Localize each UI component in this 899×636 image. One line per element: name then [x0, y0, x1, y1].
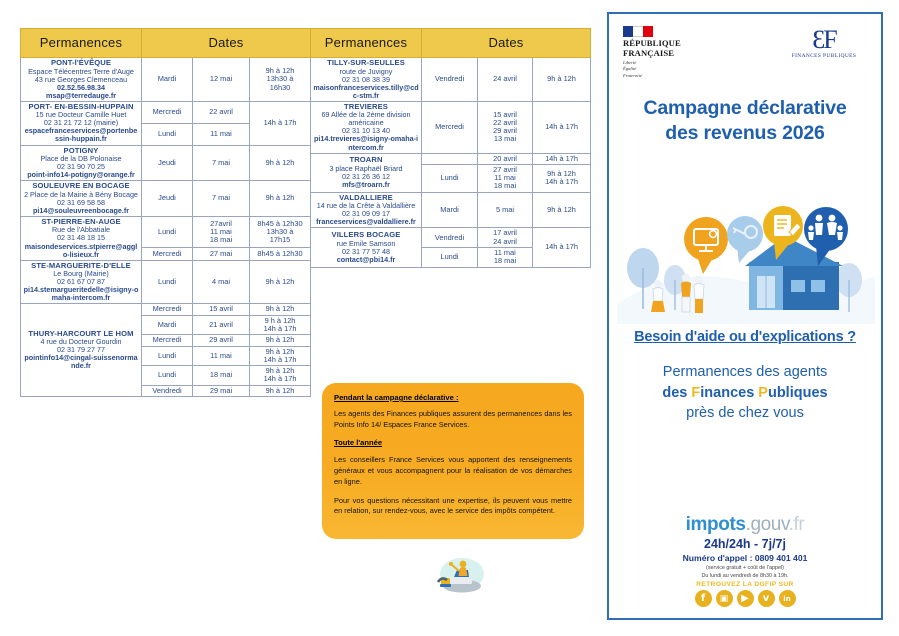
table-header-row: Permanences Dates: [311, 29, 591, 58]
site-cell: TROARN3 place Raphaël Briard02 31 26 36 …: [311, 153, 422, 192]
date-cell: 4 mai: [193, 260, 250, 304]
table-row: TILLY-SUR-SEULLESroute de Juvigny02 31 0…: [311, 58, 591, 102]
site-email: point-info14-potigny@orange.fr: [23, 171, 139, 179]
hours-cell: 9h à 12h: [533, 58, 591, 102]
hours-cell: 9h à 12h 14h à 17h: [250, 346, 311, 366]
day-cell: Jeudi: [142, 145, 193, 181]
date-cell: 21 avril: [193, 315, 250, 335]
subtitle-des: des: [662, 385, 691, 401]
site-cell: VILLERS BOCAGErue Emile Samson02 31 77 5…: [311, 228, 422, 267]
republique-francaise-logo: RÉPUBLIQUE FRANÇAISE Liberté Égalité Fra…: [623, 26, 705, 79]
date-cell: 20 avril: [478, 153, 533, 164]
hours-cell: 9h à 12h: [250, 145, 311, 181]
site-email: espacefranceservices@portenbessin-huppai…: [23, 127, 139, 143]
date-cell: 15 avril: [193, 304, 250, 315]
table-row: VALDALLIERE14 rue de la Crête à Valdalli…: [311, 192, 591, 228]
site-email: pi14@souleuvreenbocage.fr: [23, 207, 139, 215]
day-cell: Mercredi: [142, 101, 193, 123]
site-email: franceservices@valdalliere.fr: [313, 218, 419, 226]
hours-cell: 8h45 à 12h30: [250, 248, 311, 261]
hours-cell: 8h45 à 12h30 13h30 à 17h15: [250, 216, 311, 247]
day-cell: Lundi: [142, 366, 193, 386]
impots-gouv-fr-logo: impots.gouv.fr: [609, 514, 881, 536]
table-row: PONT-l'ÉVÊQUEEspace Télécentres Terre d'…: [21, 58, 311, 102]
campaign-title-line2: des revenus 2026: [609, 121, 881, 146]
republique-francaise-name: RÉPUBLIQUE FRANÇAISE: [623, 39, 705, 58]
call-note: (service gratuit + coût de l'appel) Du l…: [609, 564, 881, 580]
site-email: mfs@troarn.fr: [313, 181, 419, 189]
site-email: pi14.stemargueritedelle@isigny-omaha-int…: [23, 286, 139, 302]
day-cell: Vendredi: [422, 228, 478, 248]
finances-publiques-logo: ƐF FINANCES PUBLIQUES: [781, 28, 867, 59]
column-header-dates: Dates: [422, 29, 591, 58]
hours-cell: 14h à 17h: [533, 153, 591, 164]
call-note-line1: (service gratuit + coût de l'appel): [609, 564, 881, 572]
site-cell: PORT- EN-BESSIN-HUPPAIN15 rue Docteur Ca…: [21, 101, 142, 145]
table-header-row: Permanences Dates: [21, 29, 311, 58]
info-box: Pendant la campagne déclarative : Les ag…: [322, 383, 584, 539]
date-cell: 11 mai: [193, 123, 250, 145]
info-box-heading-yearround: Toute l'année: [334, 438, 572, 447]
date-cell: 15 avril 22 avril 29 avril 13 mai: [478, 101, 533, 153]
hours-cell: 9h à 12h: [250, 260, 311, 304]
desk-illustration: [436, 552, 488, 594]
instagram-icon[interactable]: ▣: [716, 590, 733, 607]
day-cell: Mercredi: [142, 248, 193, 261]
day-cell: Mercredi: [142, 335, 193, 346]
social-links: f▣▶ᴠin: [609, 590, 881, 607]
youtube-icon[interactable]: ▶: [737, 590, 754, 607]
campaign-title-line1: Campagne déclarative: [609, 96, 881, 121]
site-cell: PONT-l'ÉVÊQUEEspace Télécentres Terre d'…: [21, 58, 142, 102]
hours-cell: 14h à 17h: [533, 228, 591, 267]
subtitle-line-1: Permanences des agents: [609, 362, 881, 383]
site-email: contact@pbi14.fr: [313, 256, 419, 264]
table-row: VILLERS BOCAGErue Emile Samson02 31 77 5…: [311, 228, 591, 248]
day-cell: Mercredi: [422, 101, 478, 153]
info-box-heading-campaign: Pendant la campagne déclarative :: [334, 393, 572, 402]
french-flag-icon: [623, 26, 653, 37]
day-cell: Lundi: [142, 346, 193, 366]
fp-monogram-icon: ƐF: [781, 28, 867, 51]
date-cell: 27avril 11 mai 18 mai: [193, 216, 250, 247]
day-cell: Lundi: [422, 247, 478, 267]
date-cell: 24 avril: [478, 58, 533, 102]
subtitle-line-3: près de chez vous: [609, 403, 881, 424]
subtitle-p: P: [758, 385, 768, 401]
date-cell: 7 mai: [193, 181, 250, 217]
brochure-page: Permanences Dates PONT-l'ÉVÊQUEEspace Té…: [0, 0, 899, 636]
table-row: POTIGNYPlace de la DB Polonaise02 31 90 …: [21, 145, 311, 181]
subtitle-ubliques: ubliques: [768, 385, 828, 401]
table-row: TROARN3 place Raphaël Briard02 31 26 36 …: [311, 153, 591, 164]
day-cell: Lundi: [142, 260, 193, 304]
date-cell: 11 mai 18 mai: [478, 247, 533, 267]
day-cell: Vendredi: [422, 58, 478, 102]
hours-cell: 9h à 12h 13h30 à 16h30: [250, 58, 311, 102]
subtitle-line-2: des Finances Publiques: [609, 383, 881, 404]
column-header-permanences: Permanences: [21, 29, 142, 58]
social-title: RETROUVEZ LA DGFIP SUR: [609, 581, 881, 588]
day-cell: Mercredi: [142, 304, 193, 315]
date-cell: 22 avril: [193, 101, 250, 123]
hours-cell: 9h à 12h 14h à 17h: [533, 164, 591, 192]
day-cell: Jeudi: [142, 181, 193, 217]
site-email: maisondeservices.stpierre@agglo-lisieux.…: [23, 243, 139, 259]
date-cell: 17 avril 24 avril: [478, 228, 533, 248]
date-cell: 18 mai: [193, 366, 250, 386]
hero-illustration: [617, 184, 875, 324]
info-box-paragraph-3: Pour vos questions nécessitant une exper…: [334, 496, 572, 517]
hours-cell: 9h à 12h: [250, 304, 311, 315]
day-cell: Vendredi: [142, 385, 193, 396]
fp-logo-label: FINANCES PUBLIQUES: [781, 53, 867, 59]
motto-fraternite: Fraternité: [623, 73, 705, 79]
day-cell: Lundi: [142, 123, 193, 145]
hours-cell: 9h à 12h: [250, 385, 311, 396]
brand-impots: impots: [686, 514, 746, 535]
info-box-paragraph-1: Les agents des Finances publiques assure…: [334, 409, 572, 430]
site-cell: STE-MARGUERITE-D'ELLELe Bourg (Mairie)02…: [21, 260, 142, 304]
site-email: msap@terredauge.fr: [23, 92, 139, 100]
day-cell: Lundi: [422, 164, 478, 192]
permanences-table-middle: Permanences Dates TILLY-SUR-SEULLESroute…: [310, 28, 591, 268]
help-title: Besoin d'aide ou d'explications ?: [609, 329, 881, 345]
date-cell: 5 mai: [478, 192, 533, 228]
availability-hours: 24h/24h - 7j/7j: [609, 537, 881, 551]
site-cell: SOULEUVRE EN BOCAGE2 Place de la Mairie …: [21, 181, 142, 217]
info-box-paragraph-2: Les conseillers France Services vous app…: [334, 455, 572, 487]
column-header-permanences: Permanences: [311, 29, 422, 58]
hours-cell: 14h à 17h: [533, 101, 591, 153]
subtitle-f: F: [691, 385, 700, 401]
facebook-icon[interactable]: f: [695, 590, 712, 607]
hours-cell: 9h à 12h: [533, 192, 591, 228]
call-note-line2: Du lundi au vendredi de 8h30 à 19h.: [609, 572, 881, 580]
site-cell: TILLY-SUR-SEULLESroute de Juvigny02 31 0…: [311, 58, 422, 102]
date-cell: 11 mai: [193, 346, 250, 366]
site-cell: ST-PIERRE-EN-AUGERue de l'Abbatiale02 31…: [21, 216, 142, 260]
brand-gouv: .gouv: [746, 514, 789, 535]
site-cell: TREVIERES69 Allée de la 2ème division am…: [311, 101, 422, 153]
date-cell: 27 avril 11 mai 18 mai: [478, 164, 533, 192]
call-number: Numéro d'appel : 0809 401 401: [609, 553, 881, 563]
day-cell: Mardi: [142, 58, 193, 102]
subtitle-inances: inances: [700, 385, 758, 401]
subtitle-block: Permanences des agents des Finances Publ…: [609, 362, 881, 424]
table-row: ST-PIERRE-EN-AUGERue de l'Abbatiale02 31…: [21, 216, 311, 247]
hours-cell: 9h à 12h: [250, 335, 311, 346]
site-email: pointinfo14@cingal-suissenormande.fr: [23, 354, 139, 370]
brand-fr: .fr: [789, 514, 805, 535]
table-row: THURY-HARCOURT LE HOM4 rue du Docteur Go…: [21, 304, 311, 315]
date-cell: 12 mai: [193, 58, 250, 102]
site-cell: POTIGNYPlace de la DB Polonaise02 31 90 …: [21, 145, 142, 181]
twitter-icon[interactable]: ᴠ: [758, 590, 775, 607]
hours-cell: 9h à 12h: [250, 181, 311, 217]
table-row: SOULEUVRE EN BOCAGE2 Place de la Mairie …: [21, 181, 311, 217]
linkedin-icon[interactable]: in: [779, 590, 796, 607]
site-cell: VALDALLIERE14 rue de la Crête à Valdalli…: [311, 192, 422, 228]
site-address-line: 69 Allée de la 2ème division américaine: [313, 111, 419, 127]
table-row: TREVIERES69 Allée de la 2ème division am…: [311, 101, 591, 153]
day-cell: Lundi: [142, 216, 193, 247]
day-cell: Mardi: [142, 315, 193, 335]
date-cell: 29 avril: [193, 335, 250, 346]
date-cell: 7 mai: [193, 145, 250, 181]
day-cell: [422, 153, 478, 164]
date-cell: 27 mai: [193, 248, 250, 261]
day-cell: Mardi: [422, 192, 478, 228]
table-row: STE-MARGUERITE-D'ELLELe Bourg (Mairie)02…: [21, 260, 311, 304]
site-cell: THURY-HARCOURT LE HOM4 rue du Docteur Go…: [21, 304, 142, 397]
date-cell: 29 mai: [193, 385, 250, 396]
republic-motto: Liberté Égalité Fraternité: [623, 60, 705, 79]
site-email: maisonfranceservices.tilly@cdc-stm.fr: [313, 84, 419, 100]
table-row: PORT- EN-BESSIN-HUPPAIN15 rue Docteur Ca…: [21, 101, 311, 123]
permanences-table-left: Permanences Dates PONT-l'ÉVÊQUEEspace Té…: [20, 28, 311, 397]
hours-cell: 9 h à 12h 14h à 17h: [250, 315, 311, 335]
hours-cell: 14h à 17h: [250, 101, 311, 145]
hours-cell: 9h à 12h 14h à 17h: [250, 366, 311, 386]
right-cover-panel: RÉPUBLIQUE FRANÇAISE Liberté Égalité Fra…: [607, 12, 883, 620]
column-header-dates: Dates: [142, 29, 311, 58]
site-email: pi14.trevieres@isigny-omaha-intercom.fr: [313, 135, 419, 151]
campaign-title: Campagne déclarative des revenus 2026: [609, 96, 881, 146]
